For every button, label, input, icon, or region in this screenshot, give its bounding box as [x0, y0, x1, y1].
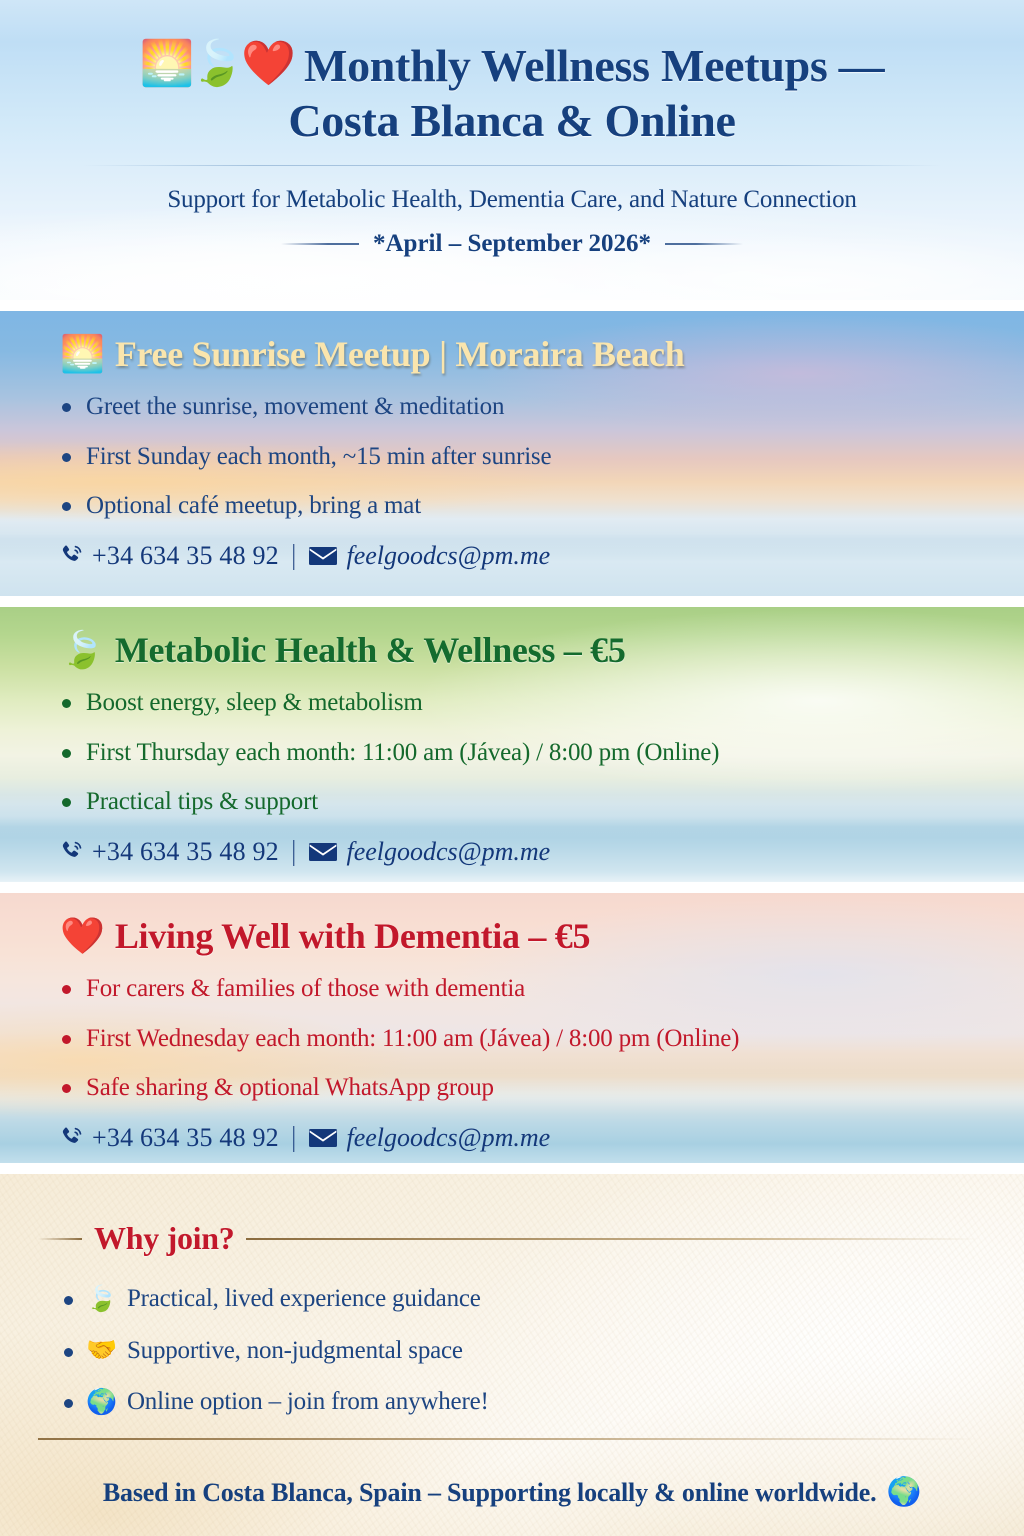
section-sunrise-contact: +34 634 35 48 92 | feelgoodcs@pm.me: [0, 540, 1024, 572]
section-dementia-contact: +34 634 35 48 92 | feelgoodcs@pm.me: [0, 1122, 1024, 1154]
wellness-meetup-poster: 🌅🍃❤️ Monthly Wellness Meetups — Costa Bl…: [0, 0, 1024, 1536]
why-join-list: 🍃 Practical, lived experience guidance 🤝…: [0, 1283, 1024, 1419]
list-item: For carers & families of those with deme…: [86, 973, 1024, 1006]
phone-number[interactable]: +34 634 35 48 92: [92, 1123, 279, 1153]
poster-header: 🌅🍃❤️ Monthly Wellness Meetups — Costa Bl…: [0, 0, 1024, 300]
band-separator-1: [0, 300, 1024, 311]
section-sunrise-header: 🌅 Free Sunrise Meetup | Moraira Beach: [0, 333, 1024, 375]
date-rule-left: [281, 243, 359, 245]
why-join-header: Why join?: [0, 1174, 1024, 1257]
section-metabolic-bullets: Boost energy, sleep & metabolism First T…: [0, 687, 1024, 819]
phone-icon: [58, 839, 84, 865]
date-range-row: *April – September 2026*: [0, 230, 1024, 258]
section-sunrise-title: Free Sunrise Meetup | Moraira Beach: [115, 333, 685, 375]
phone-number[interactable]: +34 634 35 48 92: [92, 541, 279, 571]
section-dementia-header: ❤️ Living Well with Dementia – €5: [0, 915, 1024, 957]
leaf-icon: 🍃: [86, 1287, 117, 1312]
why-rule-left: [38, 1238, 82, 1240]
email-address[interactable]: feelgoodcs@pm.me: [346, 541, 550, 571]
list-item: 🌍 Online option – join from anywhere!: [86, 1386, 1024, 1419]
globe-icon: 🌍: [886, 1479, 921, 1507]
why-item-label: Supportive, non-judgmental space: [127, 1335, 463, 1368]
section-metabolic-header: 🍃 Metabolic Health & Wellness – €5: [0, 629, 1024, 671]
list-item: 🤝 Supportive, non-judgmental space: [86, 1335, 1024, 1368]
why-item-label: Online option – join from anywhere!: [127, 1386, 489, 1419]
section-dementia-title: Living Well with Dementia – €5: [115, 915, 590, 957]
list-item: 🍃 Practical, lived experience guidance: [86, 1283, 1024, 1316]
list-item: Practical tips & support: [86, 786, 1024, 819]
band-separator-4: [0, 1163, 1024, 1174]
band-separator-3: [0, 882, 1024, 893]
list-item: First Thursday each month: 11:00 am (Jáv…: [86, 737, 1024, 770]
list-item: Safe sharing & optional WhatsApp group: [86, 1072, 1024, 1105]
footer-note: Based in Costa Blanca, Spain – Supportin…: [0, 1478, 1024, 1508]
section-metabolic-health: 🍃 Metabolic Health & Wellness – €5 Boost…: [0, 607, 1024, 882]
envelope-icon: [308, 841, 338, 863]
email-address[interactable]: feelgoodcs@pm.me: [346, 1123, 550, 1153]
contact-separator: |: [291, 1122, 297, 1154]
why-join-title: Why join?: [94, 1220, 234, 1257]
envelope-icon: [308, 1127, 338, 1149]
section-sunrise-meetup: 🌅 Free Sunrise Meetup | Moraira Beach Gr…: [0, 311, 1024, 596]
section-metabolic-contact: +34 634 35 48 92 | feelgoodcs@pm.me: [0, 836, 1024, 868]
email-address[interactable]: feelgoodcs@pm.me: [346, 837, 550, 867]
footer-divider: [38, 1438, 980, 1440]
why-item-label: Practical, lived experience guidance: [127, 1283, 481, 1316]
phone-icon: [58, 543, 84, 569]
contact-separator: |: [291, 836, 297, 868]
title-line-1: Monthly Wellness Meetups —: [304, 42, 884, 90]
phone-icon: [58, 1125, 84, 1151]
red-heart-icon: ❤️: [60, 918, 105, 954]
band-separator-2: [0, 596, 1024, 607]
title-emoji-group: 🌅🍃❤️: [140, 42, 292, 86]
section-living-well-dementia: ❤️ Living Well with Dementia – €5 For ca…: [0, 893, 1024, 1163]
list-item: First Sunday each month, ~15 min after s…: [86, 441, 1024, 474]
list-item: First Wednesday each month: 11:00 am (Já…: [86, 1023, 1024, 1056]
globe-icon: 🌍: [86, 1390, 117, 1415]
page-subtitle: Support for Metabolic Health, Dementia C…: [0, 186, 1024, 214]
phone-number[interactable]: +34 634 35 48 92: [92, 837, 279, 867]
list-item: Boost energy, sleep & metabolism: [86, 687, 1024, 720]
date-rule-right: [665, 243, 743, 245]
title-line-2: Costa Blanca & Online: [0, 94, 1024, 147]
section-why-join: Why join? 🍃 Practical, lived experience …: [0, 1174, 1024, 1536]
header-divider: [82, 165, 942, 166]
section-sunrise-bullets: Greet the sunrise, movement & meditation…: [0, 391, 1024, 523]
why-rule-right: [246, 1238, 980, 1240]
handshake-heart-icon: 🤝: [86, 1338, 117, 1363]
footer-note-text: Based in Costa Blanca, Spain – Supportin…: [103, 1478, 877, 1508]
date-range: *April – September 2026*: [373, 230, 651, 258]
section-dementia-bullets: For carers & families of those with deme…: [0, 973, 1024, 1105]
page-title: 🌅🍃❤️ Monthly Wellness Meetups —: [0, 42, 1024, 90]
leaf-icon: 🍃: [60, 632, 105, 668]
envelope-icon: [308, 545, 338, 567]
contact-separator: |: [291, 540, 297, 572]
list-item: Greet the sunrise, movement & meditation: [86, 391, 1024, 424]
sunrise-over-water-icon: 🌅: [60, 336, 105, 372]
section-metabolic-title: Metabolic Health & Wellness – €5: [115, 629, 626, 671]
list-item: Optional café meetup, bring a mat: [86, 490, 1024, 523]
